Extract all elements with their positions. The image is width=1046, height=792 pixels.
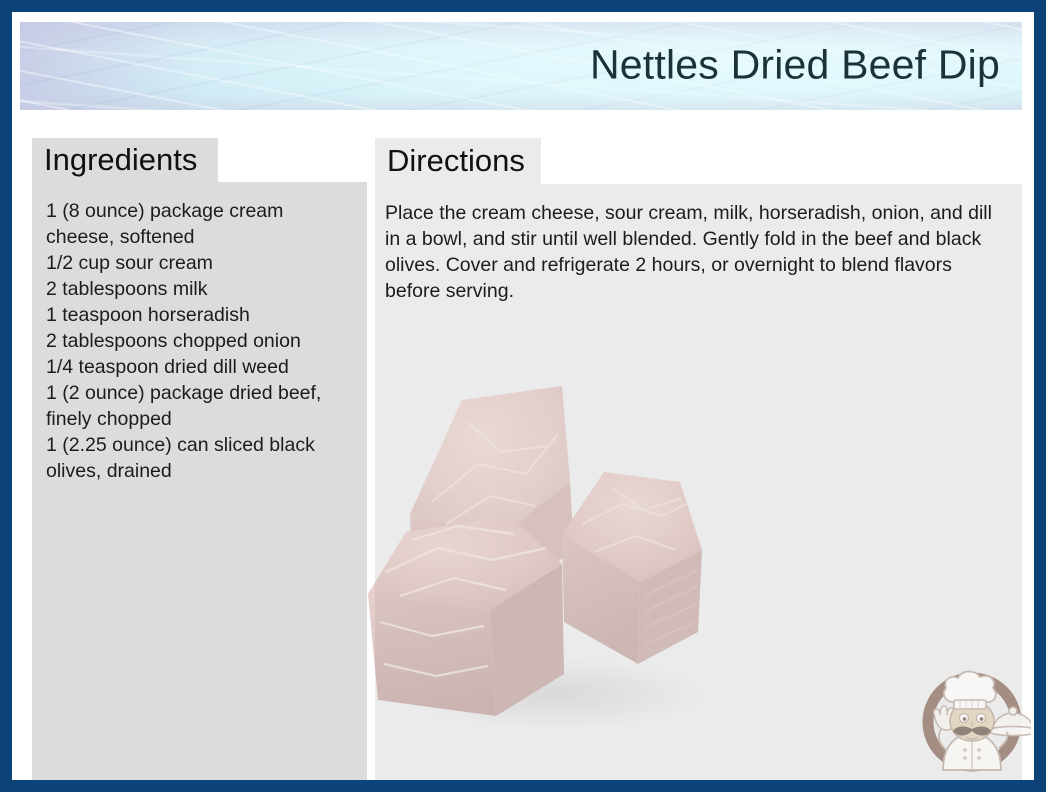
list-item: 1/4 teaspoon dried dill weed [46, 354, 353, 380]
tab-ingredients[interactable]: Ingredients [32, 138, 218, 182]
tab-directions[interactable]: Directions [375, 138, 541, 184]
list-item: 1/2 cup sour cream [46, 250, 353, 276]
list-item: 2 tablespoons milk [46, 276, 353, 302]
ingredients-panel: 1 (8 ounce) package cream cheese, soften… [32, 182, 367, 792]
list-item: 2 tablespoons chopped onion [46, 328, 353, 354]
list-item: 1 (8 ounce) package cream cheese, soften… [46, 198, 353, 250]
directions-panel: Place the cream cheese, sour cream, milk… [375, 184, 1022, 792]
list-item: 1 (2 ounce) package dried beef, finely c… [46, 380, 353, 432]
tab-directions-label: Directions [387, 143, 525, 179]
list-item: 1 (2.25 ounce) can sliced black olives, … [46, 432, 353, 484]
recipe-slide: Nettles Dried Beef Dip Ingredients Direc… [0, 0, 1046, 792]
page-title: Nettles Dried Beef Dip [590, 42, 1000, 89]
title-banner: Nettles Dried Beef Dip [20, 22, 1022, 110]
directions-text: Place the cream cheese, sour cream, milk… [385, 200, 1008, 304]
list-item: 1 teaspoon horseradish [46, 302, 353, 328]
ingredients-list: 1 (8 ounce) package cream cheese, soften… [46, 198, 353, 484]
tab-ingredients-label: Ingredients [44, 142, 197, 178]
